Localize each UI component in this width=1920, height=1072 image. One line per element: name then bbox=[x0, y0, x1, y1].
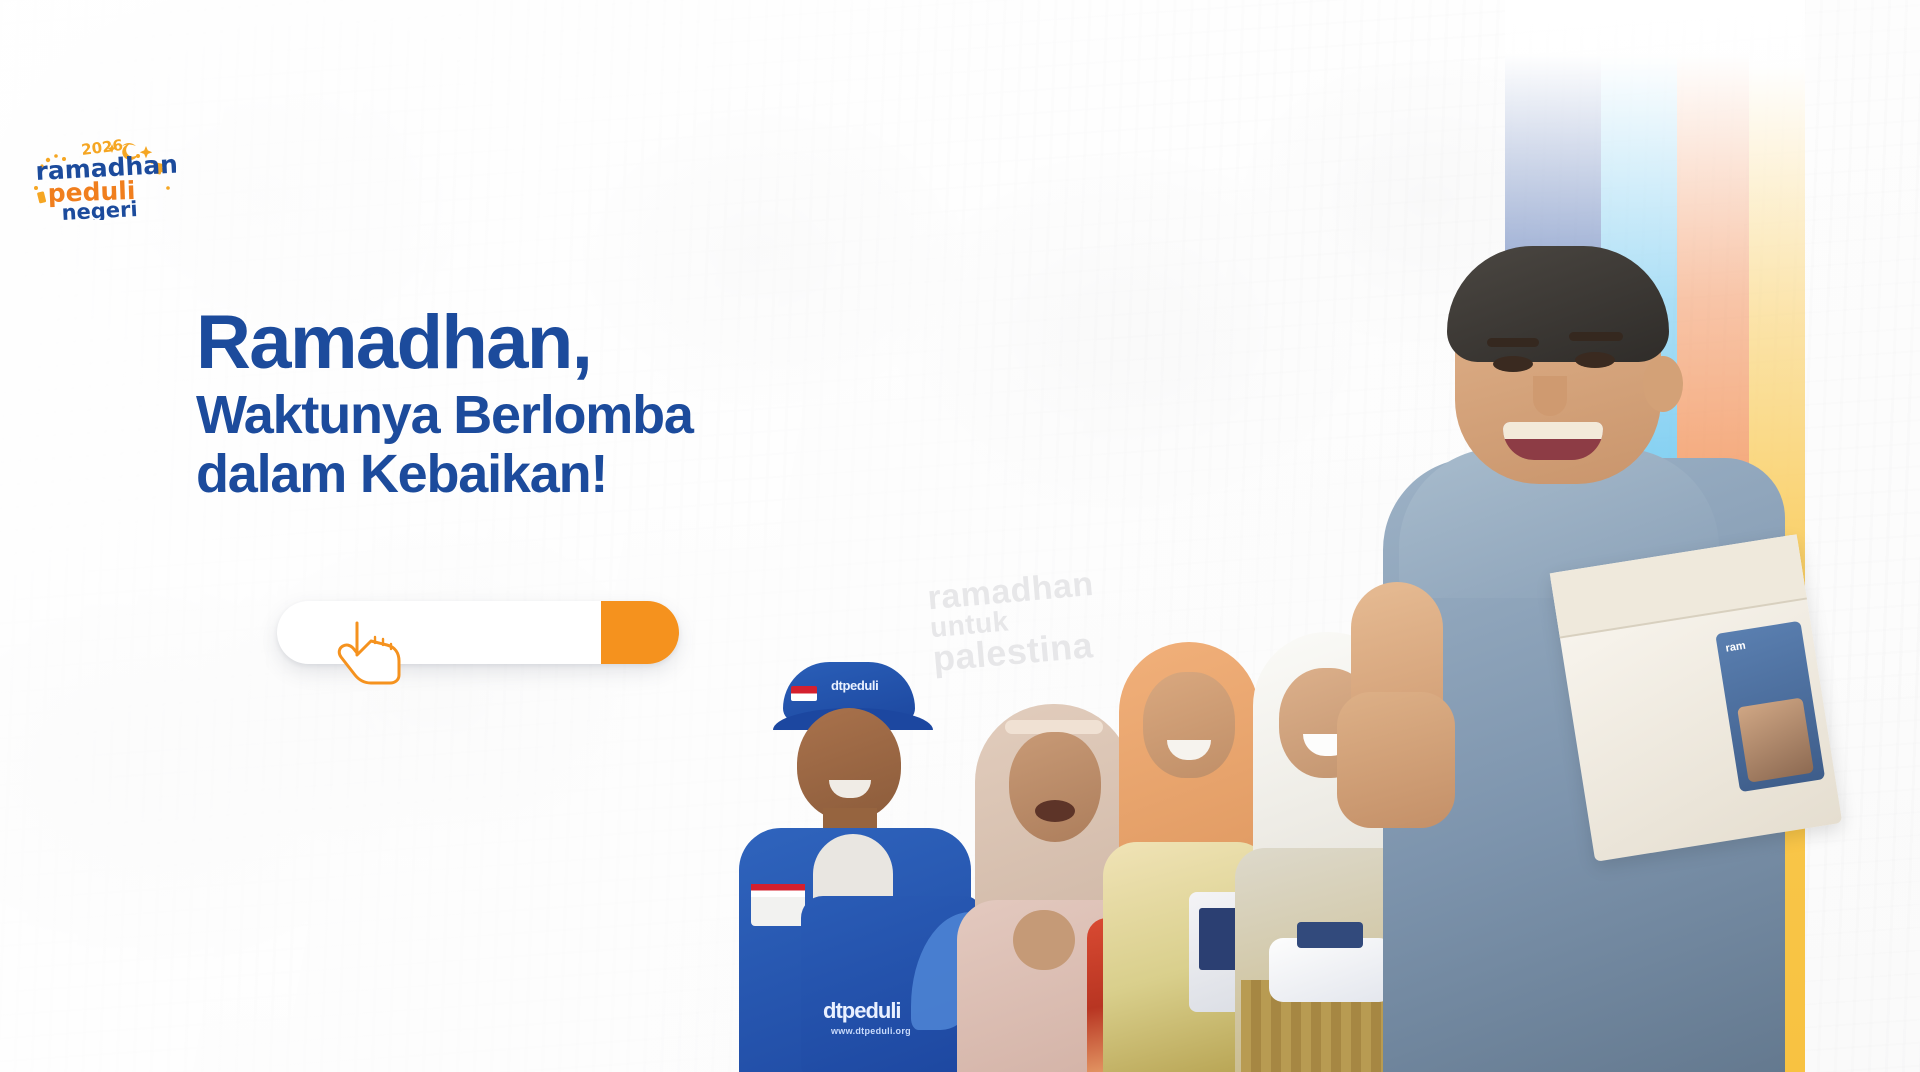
boy-hair bbox=[1447, 246, 1669, 362]
boy-mouth bbox=[1503, 422, 1603, 460]
svg-text:negeri: negeri bbox=[61, 197, 138, 220]
boy-fist bbox=[1337, 692, 1455, 828]
photo-volunteer-man: dtpeduli dtpeduli www.dtpeduli.org bbox=[735, 662, 985, 1072]
hero-banner: ramadhan untuk palestina 2026 ramadhan bbox=[0, 0, 1920, 1072]
people-photo-collage: dtpeduli dtpeduli www.dtpeduli.org bbox=[735, 412, 1920, 1072]
headline-line-1: Ramadhan, bbox=[196, 306, 916, 380]
cap-brand-text: dtpeduli bbox=[831, 678, 878, 693]
boy-eyebrow-left bbox=[1487, 338, 1539, 347]
boy-nose bbox=[1533, 376, 1567, 416]
aid-box: ram bbox=[1550, 534, 1843, 862]
photo-boy-thumbs-up: ram bbox=[1343, 252, 1813, 1072]
aid-box-label: ram bbox=[1715, 621, 1825, 792]
elderly-woman-face bbox=[1009, 732, 1101, 842]
boy-eye-right bbox=[1575, 352, 1615, 368]
campaign-logo[interactable]: 2026 ramadhan peduli negeri bbox=[26, 130, 176, 220]
bag-brand-text: dtpeduli bbox=[823, 998, 901, 1024]
girl1-face bbox=[1143, 672, 1235, 778]
aid-box-portrait bbox=[1737, 697, 1814, 782]
elderly-woman-hands bbox=[1013, 910, 1075, 970]
search-submit-button[interactable] bbox=[601, 601, 679, 664]
boy-eye-left bbox=[1493, 356, 1533, 372]
elderly-woman-mouth bbox=[1035, 800, 1075, 822]
boy-teeth bbox=[1503, 422, 1603, 439]
volunteer-face bbox=[797, 708, 901, 820]
campaign-logo-icon: 2026 ramadhan peduli negeri bbox=[26, 130, 176, 220]
cta-search-bar[interactable] bbox=[277, 601, 679, 664]
aid-box-label-text: ram bbox=[1725, 640, 1747, 656]
bottom-fade bbox=[0, 1046, 1920, 1072]
bag-url-text: www.dtpeduli.org bbox=[831, 1026, 911, 1036]
boy-eyebrow-right bbox=[1569, 332, 1623, 341]
indonesia-flag-icon bbox=[791, 686, 817, 701]
vest-flag-patch bbox=[751, 884, 805, 926]
boy-ear bbox=[1643, 356, 1683, 412]
search-input[interactable] bbox=[277, 601, 601, 664]
